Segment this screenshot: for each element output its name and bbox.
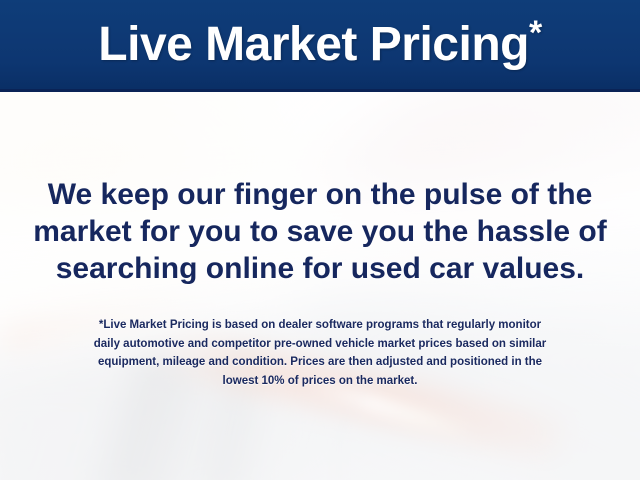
- page-title-asterisk: *: [529, 14, 542, 52]
- disclaimer-block: *Live Market Pricing is based on dealer …: [28, 316, 612, 390]
- header-banner: Live Market Pricing*: [0, 0, 640, 92]
- disclaimer-line-3: equipment, mileage and condition. Prices…: [28, 353, 612, 372]
- disclaimer-line-1: *Live Market Pricing is based on dealer …: [28, 316, 612, 335]
- disclaimer-line-4: lowest 10% of prices on the market.: [28, 372, 612, 391]
- page-title: Live Market Pricing*: [98, 21, 541, 69]
- page-title-text: Live Market Pricing: [98, 18, 529, 71]
- headline-line-1: We keep our finger on the pulse of the: [20, 176, 620, 213]
- disclaimer-line-2: daily automotive and competitor pre-owne…: [28, 335, 612, 354]
- headline-line-2: market for you to save you the hassle of: [20, 213, 620, 250]
- headline-line-3: searching online for used car values.: [20, 250, 620, 287]
- marketing-slide: Live Market Pricing* We keep our finger …: [0, 0, 640, 480]
- headline-block: We keep our finger on the pulse of the m…: [20, 176, 620, 287]
